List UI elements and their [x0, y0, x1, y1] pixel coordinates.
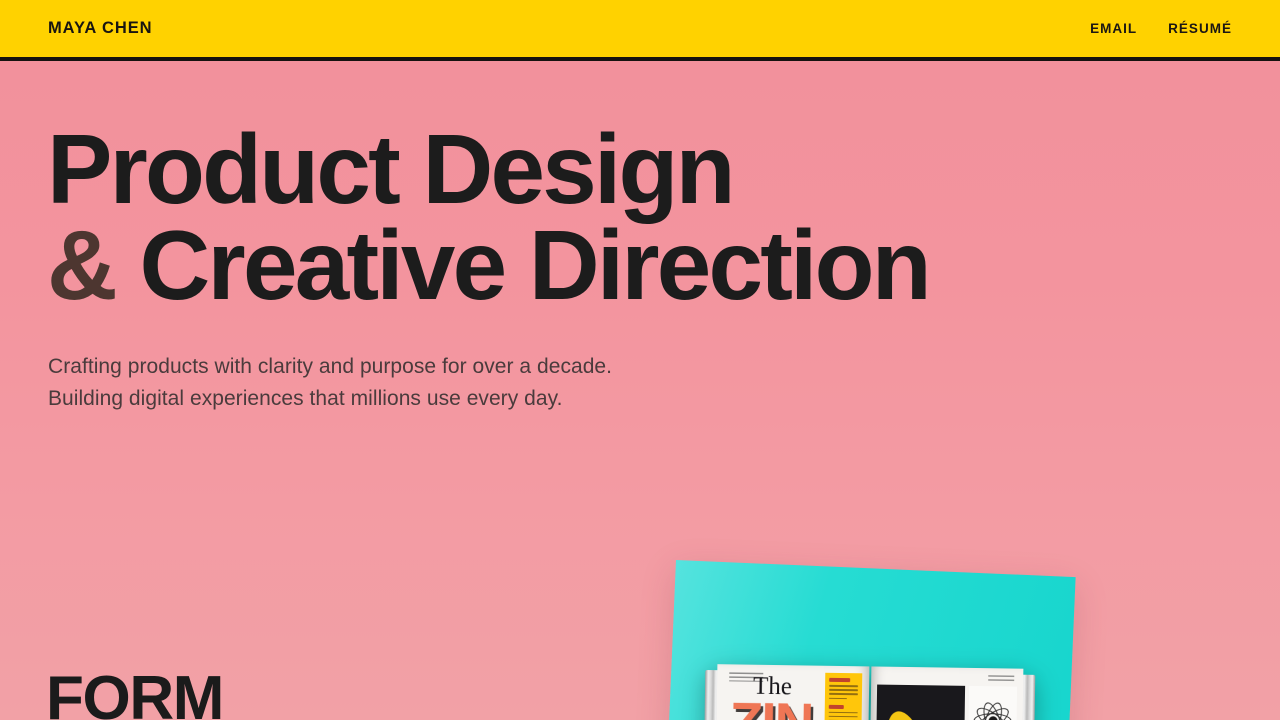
magazine-black-panel — [875, 685, 965, 720]
hero-photo: The ZIN — [676, 560, 1076, 720]
nav-link-email[interactable]: EMAIL — [1090, 22, 1137, 36]
hero-subtitle: Crafting products with clarity and purpo… — [48, 351, 612, 415]
sidebar-text-line — [829, 711, 858, 713]
sidebar-text-line — [829, 685, 858, 687]
page-title: Product Design & Creative Direction — [47, 121, 929, 313]
magazine-page-right — [869, 666, 1023, 720]
photo-teal-backdrop: The ZIN — [665, 560, 1075, 720]
hero-title-line-2: Creative Direction — [140, 210, 929, 320]
section-heading-form: FORM — [46, 668, 223, 720]
sidebar-text-line — [829, 716, 858, 718]
sidebar-heading-bar — [829, 705, 844, 709]
sidebar-text-line — [829, 697, 847, 699]
sidebar-text-line — [829, 693, 858, 695]
pear-shape-icon — [881, 707, 922, 720]
magazine-white-panel — [967, 686, 1017, 720]
hero-subtitle-line-2: Building digital experiences that millio… — [48, 387, 562, 410]
magazine-spread: The ZIN — [703, 664, 1035, 720]
site-header: MAYA CHEN EMAIL RÉSUMÉ — [0, 0, 1280, 61]
page-folio-lines — [988, 675, 1014, 683]
magazine-headline: ZIN — [729, 694, 813, 720]
primary-navigation: EMAIL RÉSUMÉ — [1090, 22, 1232, 36]
magazine-page-left: The ZIN — [715, 664, 869, 720]
brand-logo[interactable]: MAYA CHEN — [48, 20, 152, 37]
hero-title-line-1: Product Design — [47, 114, 733, 224]
sidebar-heading-bar — [829, 678, 850, 682]
atom-diagram-icon — [972, 700, 1013, 720]
hero-title-ampersand: & — [47, 210, 115, 320]
nav-link-resume[interactable]: RÉSUMÉ — [1168, 22, 1232, 36]
sidebar-text-line — [829, 689, 858, 691]
portfolio-landing-page: MAYA CHEN EMAIL RÉSUMÉ Product Design & … — [0, 0, 1280, 720]
magazine-yellow-sidebar — [823, 673, 862, 720]
hero-subtitle-line-1: Crafting products with clarity and purpo… — [48, 355, 612, 378]
